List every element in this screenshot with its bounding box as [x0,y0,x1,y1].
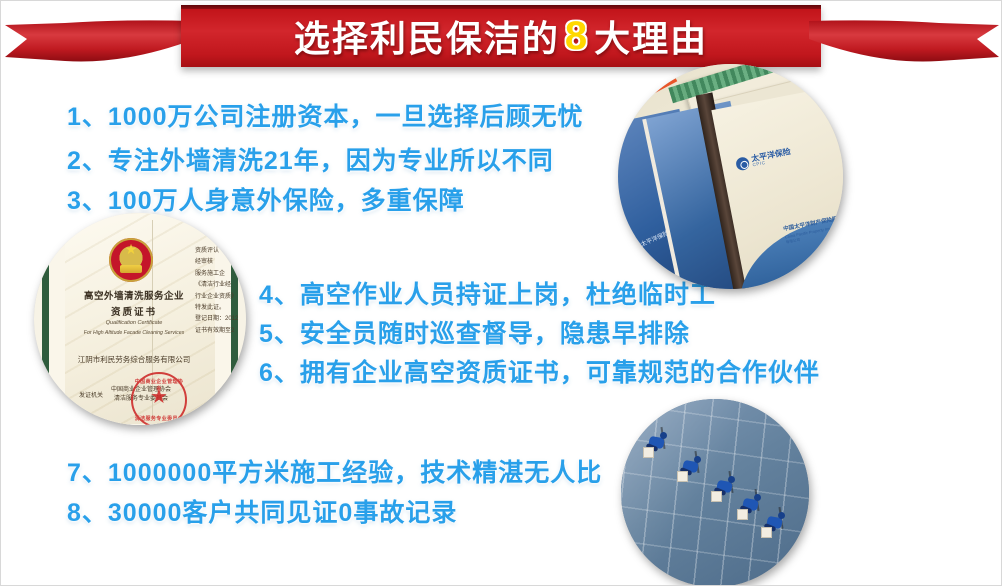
certificate-issuer-label: 发证机关 [79,390,103,399]
worker-head [778,512,785,519]
insurance-cover-caption-1: 中国太平洋保险 [628,228,670,253]
certificate-right-line: 《清洁行业经 [195,280,246,291]
certificate-right-line: 登记日期：2012 [195,314,246,325]
reason-line-5: 5、安全员随时巡查督导，隐患早排除 [259,314,690,350]
banner-title: 选择利民保洁的 8 大理由 [181,5,821,67]
national-emblem-icon [109,238,153,282]
reason-line-7: 7、1000000平方米施工经验，技术精湛无人比 [67,453,602,489]
water-bucket [677,471,688,482]
reason-line-6: 6、拥有企业高空资质证书，可靠规范的合作伙伴 [259,353,820,389]
certificate-right-line: 行业企业资质》 [195,292,246,303]
certificate-right-line: 证书有效期至2 [195,326,246,337]
certificate-english-line-2: For High Altitude Facade Cleaning Servic… [71,330,197,336]
photo-qualification-certificate: 高空外墙清洗服务企业 资质证书 Qualification Certificat… [34,213,246,425]
banner-highlight-number: 8 [565,14,589,59]
certificate-red-seal: 中国商业企业管理协会 清洁服务专业委员会 [131,372,187,425]
insurance-wave-graphic [726,204,843,289]
certificate-title-line-1: 高空外墙清洗服务企业 [75,288,193,302]
water-bucket [761,527,772,538]
worker-head [660,432,667,439]
cpic-logo: 太平洋保险 CPIC [735,148,792,171]
certificate-english-line-1: Qualification Certificate [75,320,193,326]
water-bucket [737,509,748,520]
worker-head [728,476,735,483]
certificate-right-line: 资质评认 [195,246,246,257]
certificate-green-border: 高空外墙清洗服务企业 资质证书 Qualification Certificat… [42,213,238,425]
seal-text-bottom: 清洁服务专业委员会 [133,415,185,422]
reason-line-3: 3、100万人身意外保险，多重保障 [67,181,465,217]
certificate-company-name: 江阴市利民劳务综合服务有限公司 [69,354,199,365]
banner-plaque: 选择利民保洁的 8 大理由 [181,5,821,67]
ribbon-banner: 选择利民保洁的 8 大理由 [1,5,1002,69]
reason-line-1: 1、1000万公司注册资本，一旦选择后顾无忧 [67,97,584,133]
photo-window-cleaners [621,399,809,586]
certificate-right-line: 经审核 [195,257,246,268]
reason-line-2: 2、专注外墙清洗21年，因为专业所以不同 [67,141,554,177]
cpic-logo-mark [735,156,750,171]
certificate-title-line-2: 资质证书 [75,304,193,318]
ribbon-tail-right [809,19,999,63]
certificate-right-column: 资质评认 经审核 服务施工企 《清洁行业经 行业企业资质》 特发此证。 登记日期… [195,246,246,337]
water-bucket [711,491,722,502]
worker-head [694,456,701,463]
certificate-right-line: 服务施工企 [195,269,246,280]
seal-text-top: 中国商业企业管理协会 [133,378,185,392]
photo-insurance-policies: 中国太平洋保险 人 中国太平洋保险 人 太平洋保险 CPIC 中国太平洋 [618,64,843,289]
ribbon-tail-left [5,19,195,63]
certificate-paper: 高空外墙清洗服务企业 资质证书 Qualification Certificat… [65,214,215,424]
banner-title-prefix: 选择利民保洁的 [294,10,560,62]
worker-head [754,494,761,501]
promo-poster: 选择利民保洁的 8 大理由 1、1000万公司注册资本，一旦选择后顾无忧 [0,0,1002,586]
certificate-right-line: 特发此证。 [195,303,246,314]
reason-line-8: 8、30000客户共同见证0事故记录 [67,493,457,529]
banner-title-suffix: 大理由 [594,10,708,62]
water-bucket [643,447,654,458]
